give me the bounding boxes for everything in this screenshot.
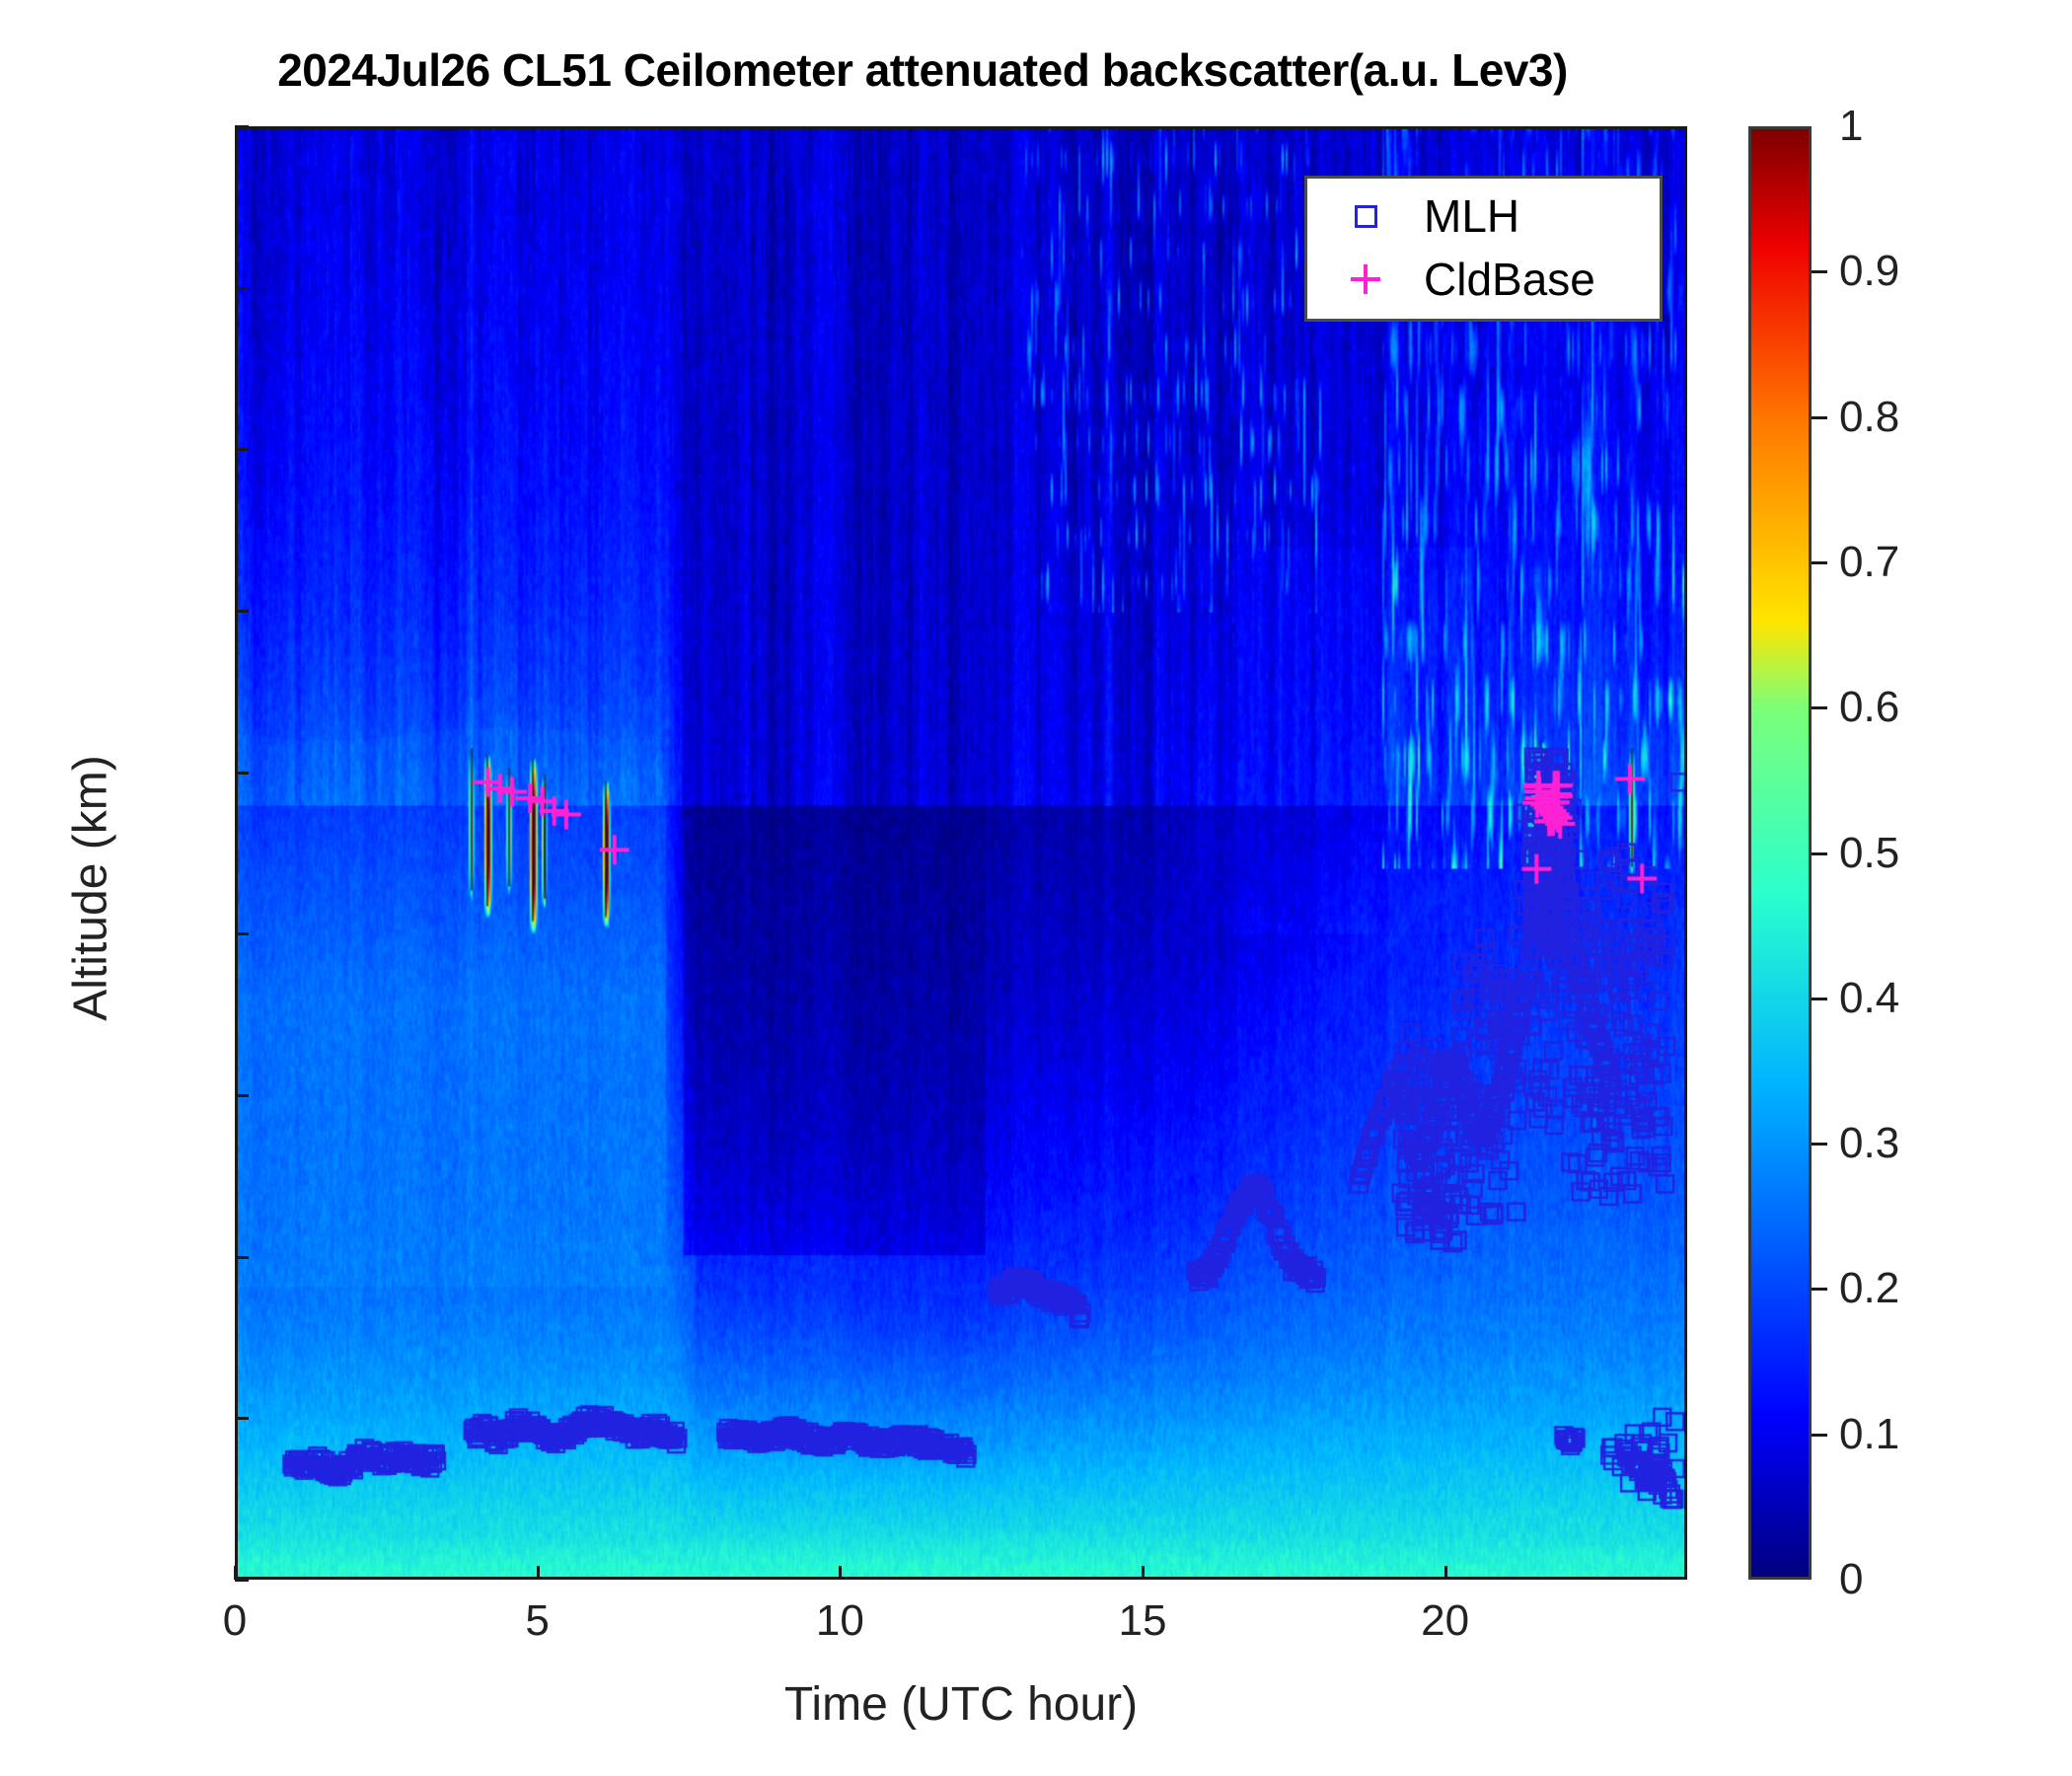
x-tick-label: 15 bbox=[1119, 1596, 1167, 1646]
colorbar-tick-mark bbox=[1812, 998, 1827, 1000]
figure-root: 2024Jul26 CL51 Ceilometer attenuated bac… bbox=[0, 0, 2072, 1776]
colorbar-tick-label: 0.6 bbox=[1839, 683, 1899, 732]
colorbar-tick-mark bbox=[1812, 270, 1827, 273]
x-tick-mark bbox=[839, 1566, 842, 1580]
y-tick-mark bbox=[235, 1094, 249, 1097]
colorbar-tick-label: 0.1 bbox=[1839, 1410, 1899, 1459]
y-tick-mark bbox=[235, 448, 249, 451]
legend-label-cldbase: CldBase bbox=[1424, 253, 1595, 306]
colorbar-tick-label: 0.4 bbox=[1839, 974, 1899, 1023]
legend-label-mlh: MLH bbox=[1424, 189, 1519, 243]
x-tick-label: 20 bbox=[1421, 1596, 1469, 1646]
colorbar-tick-mark bbox=[1812, 1434, 1827, 1437]
legend: MLH CldBase bbox=[1304, 176, 1663, 322]
y-tick-mark bbox=[235, 932, 249, 935]
x-tick-mark bbox=[1444, 1566, 1447, 1580]
colorbar-tick-label: 0 bbox=[1839, 1555, 1863, 1604]
y-axis-label: Altitude (km) bbox=[64, 612, 118, 1164]
colorbar-tick-mark bbox=[1812, 852, 1827, 855]
colorbar-tick-mark bbox=[1812, 1143, 1827, 1146]
y-tick-mark bbox=[235, 1417, 249, 1420]
x-tick-label: 5 bbox=[525, 1596, 549, 1646]
x-axis-label: Time (UTC hour) bbox=[235, 1677, 1687, 1732]
colorbar-tick-label: 0.2 bbox=[1839, 1264, 1899, 1313]
colorbar-tick-mark bbox=[1812, 1288, 1827, 1291]
colorbar-tick-label: 1 bbox=[1839, 102, 1863, 151]
x-tick-mark bbox=[537, 1566, 540, 1580]
colorbar-tick-label: 0.8 bbox=[1839, 393, 1899, 442]
y-tick-mark bbox=[235, 287, 249, 290]
y-tick-mark bbox=[235, 610, 249, 613]
colorbar-tick-label: 0.7 bbox=[1839, 538, 1899, 587]
colorbar-gradient bbox=[1748, 126, 1812, 1580]
plus-icon bbox=[1307, 264, 1424, 294]
colorbar-tick-mark bbox=[1812, 561, 1827, 564]
legend-item-mlh[interactable]: MLH bbox=[1307, 185, 1660, 248]
legend-item-cldbase[interactable]: CldBase bbox=[1307, 248, 1660, 311]
y-tick-mark bbox=[235, 772, 249, 775]
page-title: 2024Jul26 CL51 Ceilometer attenuated bac… bbox=[0, 43, 1845, 97]
x-tick-mark bbox=[1142, 1566, 1145, 1580]
colorbar: 10.90.80.70.60.50.40.30.20.10 bbox=[1748, 126, 1812, 1580]
colorbar-tick-label: 0.3 bbox=[1839, 1119, 1899, 1168]
plot-axes-area bbox=[235, 126, 1687, 1580]
y-tick-mark bbox=[235, 1256, 249, 1259]
colorbar-tick-label: 0.9 bbox=[1839, 247, 1899, 296]
y-tick-mark bbox=[235, 1579, 249, 1582]
colorbar-tick-label: 0.5 bbox=[1839, 829, 1899, 878]
x-tick-label: 10 bbox=[816, 1596, 864, 1646]
x-tick-label: 0 bbox=[223, 1596, 247, 1646]
colorbar-tick-mark bbox=[1812, 416, 1827, 419]
colorbar-tick-mark bbox=[1812, 706, 1827, 709]
marker-overlay bbox=[238, 129, 1684, 1577]
x-tick-mark bbox=[234, 1566, 237, 1580]
y-tick-mark bbox=[235, 125, 249, 128]
square-icon bbox=[1307, 205, 1424, 228]
